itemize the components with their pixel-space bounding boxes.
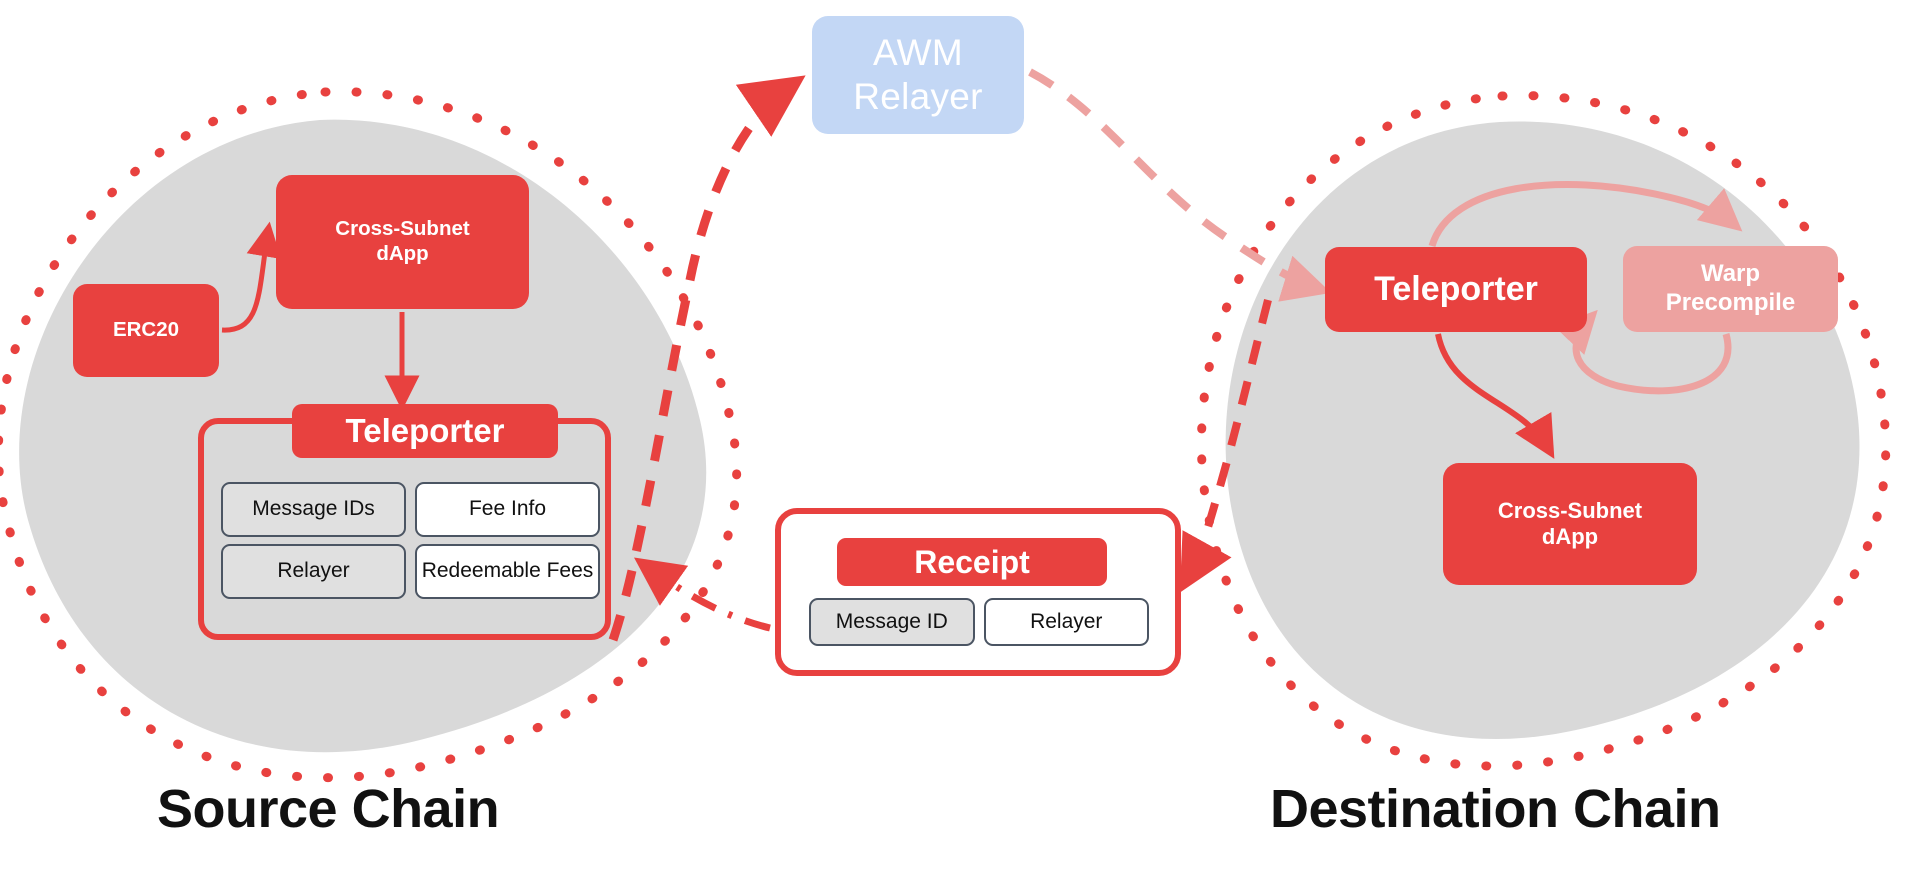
source-teleporter-field-grid: Message IDs Fee Info Relayer Redeemable … <box>221 482 600 599</box>
field-fee-info: Fee Info <box>415 482 600 537</box>
source-erc20-node: ERC20 <box>73 284 219 377</box>
source-dapp-label-line1: Cross-Subnet <box>335 217 469 242</box>
warp-precompile-label-line2: Precompile <box>1666 289 1795 318</box>
edge-dst-teleporter-to-receipt <box>1188 300 1268 578</box>
destination-chain-blob <box>1201 96 1885 766</box>
receipt-title: Receipt <box>837 538 1107 586</box>
destination-teleporter-node: Teleporter <box>1325 247 1587 332</box>
edge-erc20-to-dapp <box>222 232 268 330</box>
destination-dapp-label-line1: Cross-Subnet <box>1498 498 1642 524</box>
awm-relayer-node: AWM Relayer <box>812 16 1024 134</box>
source-erc20-label: ERC20 <box>113 318 179 343</box>
field-message-ids: Message IDs <box>221 482 406 537</box>
receipt-panel: Receipt Message ID Relayer <box>775 508 1181 676</box>
awm-relayer-label-line1: AWM <box>853 31 983 75</box>
edge-receipt-to-src-teleporter <box>646 566 770 628</box>
source-chain-caption: Source Chain <box>157 778 499 840</box>
edge-teleporter-to-relayer <box>613 86 790 640</box>
destination-dapp-label-line2: dApp <box>1498 524 1642 550</box>
receipt-field-message-id: Message ID <box>809 598 975 646</box>
edge-dst-teleporter-to-warp <box>1432 184 1736 246</box>
source-cross-subnet-dapp-node: Cross-Subnet dApp <box>276 175 529 309</box>
field-redeemable-fees: Redeemable Fees <box>415 544 600 599</box>
edge-dst-teleporter-to-dapp <box>1438 334 1548 448</box>
destination-chain-caption: Destination Chain <box>1270 778 1721 840</box>
receipt-field-row: Message ID Relayer <box>809 598 1149 646</box>
diagram-canvas: AWM Relayer Cross-Subnet dApp ERC20 Tele… <box>0 0 1920 892</box>
edge-relayer-to-dst-teleporter <box>1030 72 1322 290</box>
destination-cross-subnet-dapp-node: Cross-Subnet dApp <box>1443 463 1697 585</box>
awm-relayer-label-line2: Relayer <box>853 75 983 119</box>
destination-teleporter-label: Teleporter <box>1374 269 1538 310</box>
source-dapp-label-line2: dApp <box>335 242 469 267</box>
receipt-field-relayer: Relayer <box>984 598 1150 646</box>
warp-precompile-node: Warp Precompile <box>1623 246 1838 332</box>
field-relayer: Relayer <box>221 544 406 599</box>
source-teleporter-title: Teleporter <box>292 404 558 458</box>
warp-precompile-label-line1: Warp <box>1666 260 1795 289</box>
source-teleporter-panel: Teleporter Message IDs Fee Info Relayer … <box>198 418 611 640</box>
